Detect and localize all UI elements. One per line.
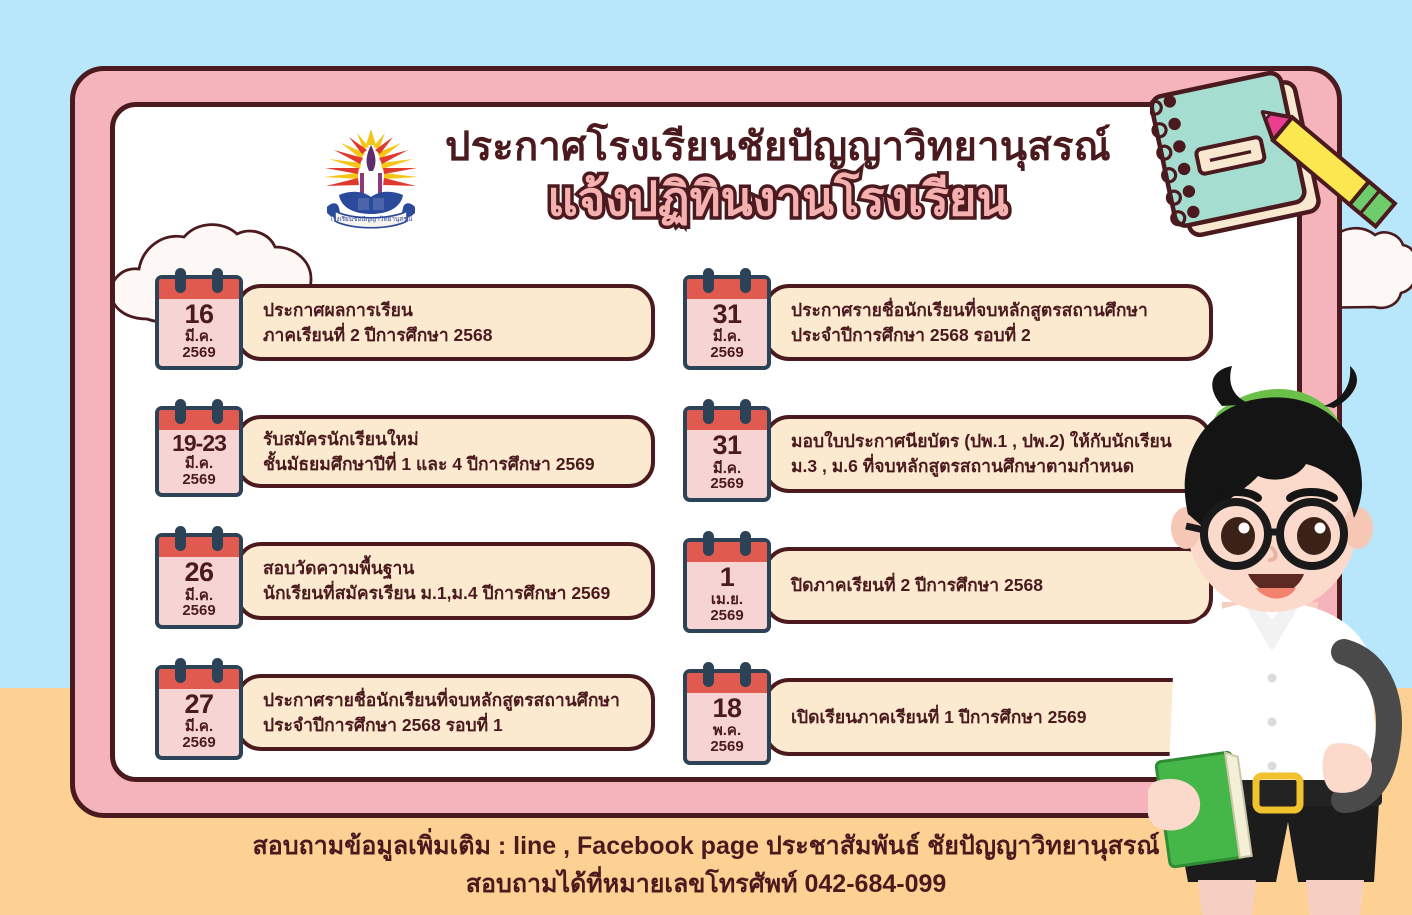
calendar-column-left: 16 มี.ค. 2569 ประกาศผลการเรียน ภาคเรียนท… bbox=[155, 275, 655, 782]
event-description: ปิดภาคเรียนที่ 2 ปีการศึกษา 2568 bbox=[763, 547, 1213, 624]
calendar-ring-right bbox=[212, 526, 223, 551]
calendar-ring-left bbox=[703, 399, 714, 424]
event-line: ประกาศผลการเรียน bbox=[263, 298, 635, 323]
calendar-year: 2569 bbox=[710, 476, 743, 493]
calendar-day: 19-23 bbox=[172, 431, 226, 456]
calendar-ring-right bbox=[212, 399, 223, 424]
calendar-month: พ.ค. bbox=[713, 723, 741, 739]
event-description: สอบวัดความพื้นฐาน นักเรียนที่สมัครเรียน … bbox=[235, 542, 655, 619]
calendar-ring-left bbox=[175, 526, 186, 551]
calendar-row[interactable]: 26 มี.ค. 2569 สอบวัดความพื้นฐาน นักเรียน… bbox=[155, 533, 655, 628]
calendar-year: 2569 bbox=[710, 608, 743, 625]
calendar-row[interactable]: 19-23 มี.ค. 2569 รับสมัครนักเรียนใหม่ ชั… bbox=[155, 406, 655, 497]
event-line: สอบวัดความพื้นฐาน bbox=[263, 556, 635, 581]
calendar-month: มี.ค. bbox=[713, 329, 741, 345]
calendar-top-bar bbox=[159, 279, 239, 299]
calendar-row[interactable]: 1 เม.ย. 2569 ปิดภาคเรียนที่ 2 ปีการศึกษา… bbox=[683, 538, 1213, 633]
calendar-top-bar bbox=[687, 279, 767, 299]
calendar-year: 2569 bbox=[182, 472, 215, 489]
calendar-date-icon: 27 มี.ค. 2569 bbox=[155, 665, 243, 760]
calendar-month: เม.ย. bbox=[711, 592, 743, 608]
calendar-columns: 16 มี.ค. 2569 ประกาศผลการเรียน ภาคเรียนท… bbox=[155, 275, 1270, 782]
calendar-row[interactable]: 27 มี.ค. 2569 ประกาศรายชื่อนักเรียนที่จบ… bbox=[155, 665, 655, 760]
event-description: เปิดเรียนภาคเรียนที่ 1 ปีการศึกษา 2569 bbox=[763, 678, 1213, 755]
calendar-month: มี.ค. bbox=[185, 588, 213, 604]
calendar-date-icon: 18 พ.ค. 2569 bbox=[683, 669, 771, 764]
event-line: เปิดเรียนภาคเรียนที่ 1 ปีการศึกษา 2569 bbox=[791, 705, 1193, 730]
calendar-day: 18 bbox=[712, 694, 741, 723]
event-description: ประกาศรายชื่อนักเรียนที่จบหลักสูตรสถานศึ… bbox=[235, 674, 655, 751]
calendar-row[interactable]: 16 มี.ค. 2569 ประกาศผลการเรียน ภาคเรียนท… bbox=[155, 275, 655, 370]
calendar-top-bar bbox=[687, 673, 767, 693]
event-line: ชั้นมัธยมศึกษาปีที่ 1 และ 4 ปีการศึกษา 2… bbox=[263, 452, 635, 477]
school-emblem-icon: โรงเรียนชัยปัญญาวิทยานุสรณ์ bbox=[311, 123, 431, 245]
event-line: ประกาศรายชื่อนักเรียนที่จบหลักสูตรสถานศึ… bbox=[791, 298, 1193, 323]
calendar-date-icon: 16 มี.ค. 2569 bbox=[155, 275, 243, 370]
calendar-day: 27 bbox=[184, 690, 213, 719]
calendar-ring-right bbox=[212, 268, 223, 293]
event-line: ปิดภาคเรียนที่ 2 ปีการศึกษา 2568 bbox=[791, 573, 1193, 598]
calendar-top-bar bbox=[159, 669, 239, 689]
calendar-ring-left bbox=[703, 662, 714, 687]
calendar-top-bar bbox=[687, 410, 767, 430]
calendar-ring-right bbox=[740, 268, 751, 293]
calendar-year: 2569 bbox=[182, 345, 215, 362]
calendar-row[interactable]: 31 มี.ค. 2569 มอบใบประกาศนียบัตร (ปพ.1 ,… bbox=[683, 406, 1213, 501]
event-line: นักเรียนที่สมัครเรียน ม.1,ม.4 ปีการศึกษา… bbox=[263, 581, 635, 606]
poster-subtitle: แจ้งปฏิทินงานโรงเรียน bbox=[445, 173, 1111, 226]
calendar-date-icon: 19-23 มี.ค. 2569 bbox=[155, 406, 243, 497]
event-description: ประกาศผลการเรียน ภาคเรียนที่ 2 ปีการศึกษ… bbox=[235, 284, 655, 361]
calendar-day: 1 bbox=[720, 563, 735, 592]
poster-header: โรงเรียนชัยปัญญาวิทยานุสรณ์ ประกาศโรงเรี… bbox=[115, 119, 1302, 245]
calendar-date-icon: 31 มี.ค. 2569 bbox=[683, 406, 771, 501]
calendar-month: มี.ค. bbox=[713, 461, 741, 477]
event-line: ประจำปีการศึกษา 2568 รอบที่ 1 bbox=[263, 713, 635, 738]
calendar-date-icon: 1 เม.ย. 2569 bbox=[683, 538, 771, 633]
calendar-month: มี.ค. bbox=[185, 719, 213, 735]
calendar-ring-left bbox=[703, 531, 714, 556]
poster-canvas: โรงเรียนชัยปัญญาวิทยานุสรณ์ ประกาศโรงเรี… bbox=[0, 0, 1412, 915]
announcement-title: ประกาศโรงเรียนชัยปัญญาวิทยานุสรณ์ bbox=[445, 125, 1111, 169]
calendar-ring-right bbox=[212, 658, 223, 683]
event-line: รับสมัครนักเรียนใหม่ bbox=[263, 427, 635, 452]
calendar-ring-left bbox=[175, 399, 186, 424]
calendar-year: 2569 bbox=[182, 603, 215, 620]
calendar-date-icon: 31 มี.ค. 2569 bbox=[683, 275, 771, 370]
calendar-day: 16 bbox=[184, 300, 213, 329]
notebook-pencil-decoration bbox=[1150, 62, 1412, 262]
calendar-ring-right bbox=[740, 662, 751, 687]
event-description: มอบใบประกาศนียบัตร (ปพ.1 , ปพ.2) ให้กับน… bbox=[763, 415, 1213, 492]
event-line: ม.3 , ม.6 ที่จบหลักสูตรสถานศึกษาตามกำหนด bbox=[791, 454, 1193, 479]
calendar-top-bar bbox=[159, 410, 239, 430]
svg-text:โรงเรียนชัยปัญญาวิทยานุสรณ์: โรงเรียนชัยปัญญาวิทยานุสรณ์ bbox=[329, 215, 412, 223]
calendar-day: 31 bbox=[712, 431, 741, 460]
event-description: ประกาศรายชื่อนักเรียนที่จบหลักสูตรสถานศึ… bbox=[763, 284, 1213, 361]
calendar-month: มี.ค. bbox=[185, 329, 213, 345]
event-description: รับสมัครนักเรียนใหม่ ชั้นมัธยมศึกษาปีที่… bbox=[235, 415, 655, 488]
calendar-row[interactable]: 18 พ.ค. 2569 เปิดเรียนภาคเรียนที่ 1 ปีกา… bbox=[683, 669, 1213, 764]
calendar-ring-left bbox=[175, 268, 186, 293]
calendar-ring-right bbox=[740, 399, 751, 424]
calendar-top-bar bbox=[159, 537, 239, 557]
event-line: ประกาศรายชื่อนักเรียนที่จบหลักสูตรสถานศึ… bbox=[263, 688, 635, 713]
calendar-month: มี.ค. bbox=[185, 456, 213, 472]
student-boy-icon bbox=[1148, 352, 1412, 915]
calendar-year: 2569 bbox=[182, 735, 215, 752]
calendar-year: 2569 bbox=[710, 345, 743, 362]
calendar-column-right: 31 มี.ค. 2569 ประกาศรายชื่อนักเรียนที่จบ… bbox=[683, 275, 1213, 782]
calendar-year: 2569 bbox=[710, 739, 743, 756]
calendar-day: 26 bbox=[184, 558, 213, 587]
calendar-ring-left bbox=[175, 658, 186, 683]
header-titles: ประกาศโรงเรียนชัยปัญญาวิทยานุสรณ์ แจ้งปฏ… bbox=[445, 119, 1111, 226]
calendar-ring-right bbox=[740, 531, 751, 556]
event-line: มอบใบประกาศนียบัตร (ปพ.1 , ปพ.2) ให้กับน… bbox=[791, 429, 1193, 454]
calendar-ring-left bbox=[703, 268, 714, 293]
event-line: ประจำปีการศึกษา 2568 รอบที่ 2 bbox=[791, 323, 1193, 348]
calendar-row[interactable]: 31 มี.ค. 2569 ประกาศรายชื่อนักเรียนที่จบ… bbox=[683, 275, 1213, 370]
poster-panel: โรงเรียนชัยปัญญาวิทยานุสรณ์ ประกาศโรงเรี… bbox=[110, 102, 1302, 782]
calendar-top-bar bbox=[687, 542, 767, 562]
calendar-date-icon: 26 มี.ค. 2569 bbox=[155, 533, 243, 628]
event-line: ภาคเรียนที่ 2 ปีการศึกษา 2568 bbox=[263, 323, 635, 348]
calendar-day: 31 bbox=[712, 300, 741, 329]
